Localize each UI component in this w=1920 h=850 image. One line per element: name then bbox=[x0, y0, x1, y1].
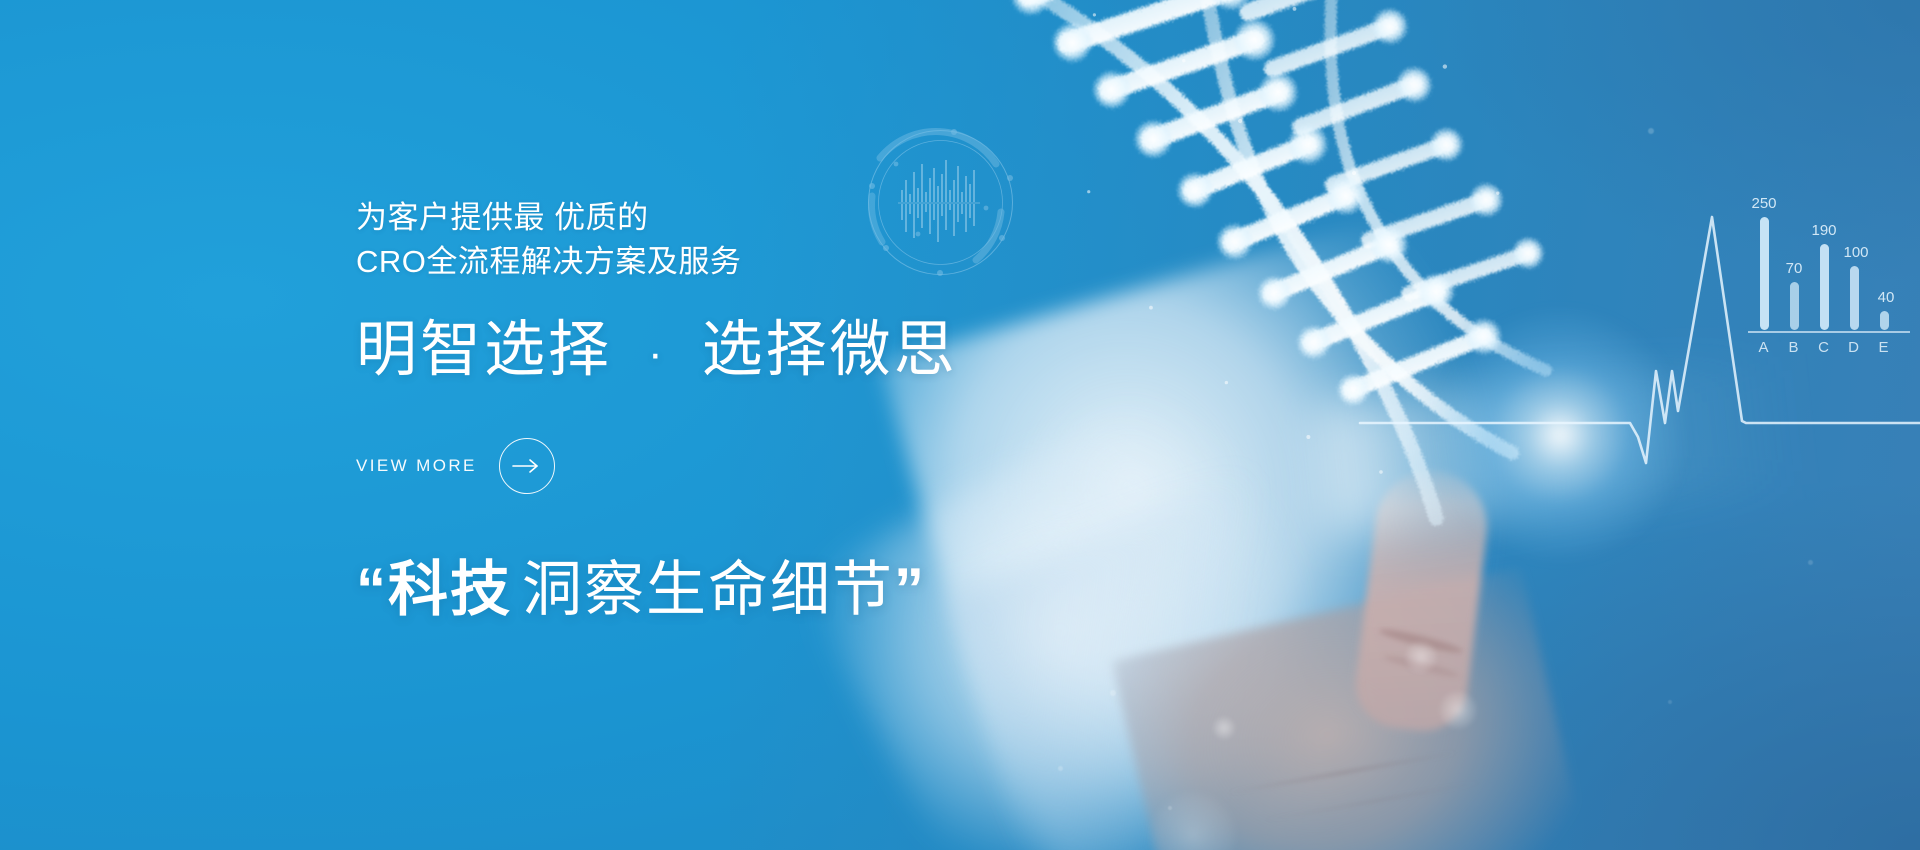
bokeh-circle bbox=[1438, 690, 1478, 730]
quote-emphasis: 科技 bbox=[388, 556, 512, 623]
chart-value-a: 250 bbox=[1751, 195, 1776, 212]
particle-dot bbox=[1058, 766, 1063, 771]
headline-right: 选择微思 bbox=[702, 315, 958, 383]
quote-open: “ bbox=[356, 556, 388, 623]
chart-category-e: E bbox=[1878, 339, 1889, 356]
particle-dot bbox=[1808, 560, 1813, 565]
chart-value-e: 40 bbox=[1878, 289, 1895, 306]
bokeh-circle bbox=[1212, 716, 1236, 740]
view-more-label: VIEW MORE bbox=[356, 456, 477, 476]
chart-value-c: 190 bbox=[1811, 222, 1836, 239]
chart-value-b: 70 bbox=[1786, 260, 1803, 277]
particle-dot bbox=[1648, 128, 1654, 134]
headline-separator: · bbox=[632, 329, 682, 380]
bar-chart: 250 70 190 100 40 A B C D E bbox=[1738, 190, 1918, 375]
chart-value-d: 100 bbox=[1843, 244, 1868, 261]
page-title: 明智选择 · 选择微思 bbox=[356, 314, 1116, 384]
subtitle-line-1: 为客户提供最 优质的 bbox=[356, 196, 1116, 240]
particle-dot bbox=[1060, 46, 1065, 51]
chart-category-a: A bbox=[1758, 339, 1769, 356]
view-more-button[interactable]: VIEW MORE bbox=[356, 438, 555, 494]
chart-category-b: B bbox=[1788, 339, 1799, 356]
hero-banner: 250 70 190 100 40 A B C D E 为客户提供最 优质的 C… bbox=[0, 0, 1920, 850]
chart-category-d: D bbox=[1848, 339, 1860, 356]
chart-category-c: C bbox=[1818, 339, 1830, 356]
subtitle-line-2: CRO全流程解决方案及服务 bbox=[356, 240, 1116, 284]
particle-dot bbox=[1110, 690, 1116, 696]
bokeh-circle bbox=[1404, 640, 1438, 674]
quote-rest: 洞察生命细节 bbox=[512, 556, 894, 623]
hero-content: 为客户提供最 优质的 CRO全流程解决方案及服务 明智选择 · 选择微思 VIE… bbox=[356, 196, 1116, 623]
headline-left: 明智选择 bbox=[356, 315, 612, 383]
quote-close: ” bbox=[894, 556, 926, 623]
arrow-right-icon[interactable] bbox=[499, 438, 555, 494]
hero-quote: “科技洞察生命细节” bbox=[356, 556, 1116, 623]
particle-dot bbox=[1668, 700, 1672, 704]
